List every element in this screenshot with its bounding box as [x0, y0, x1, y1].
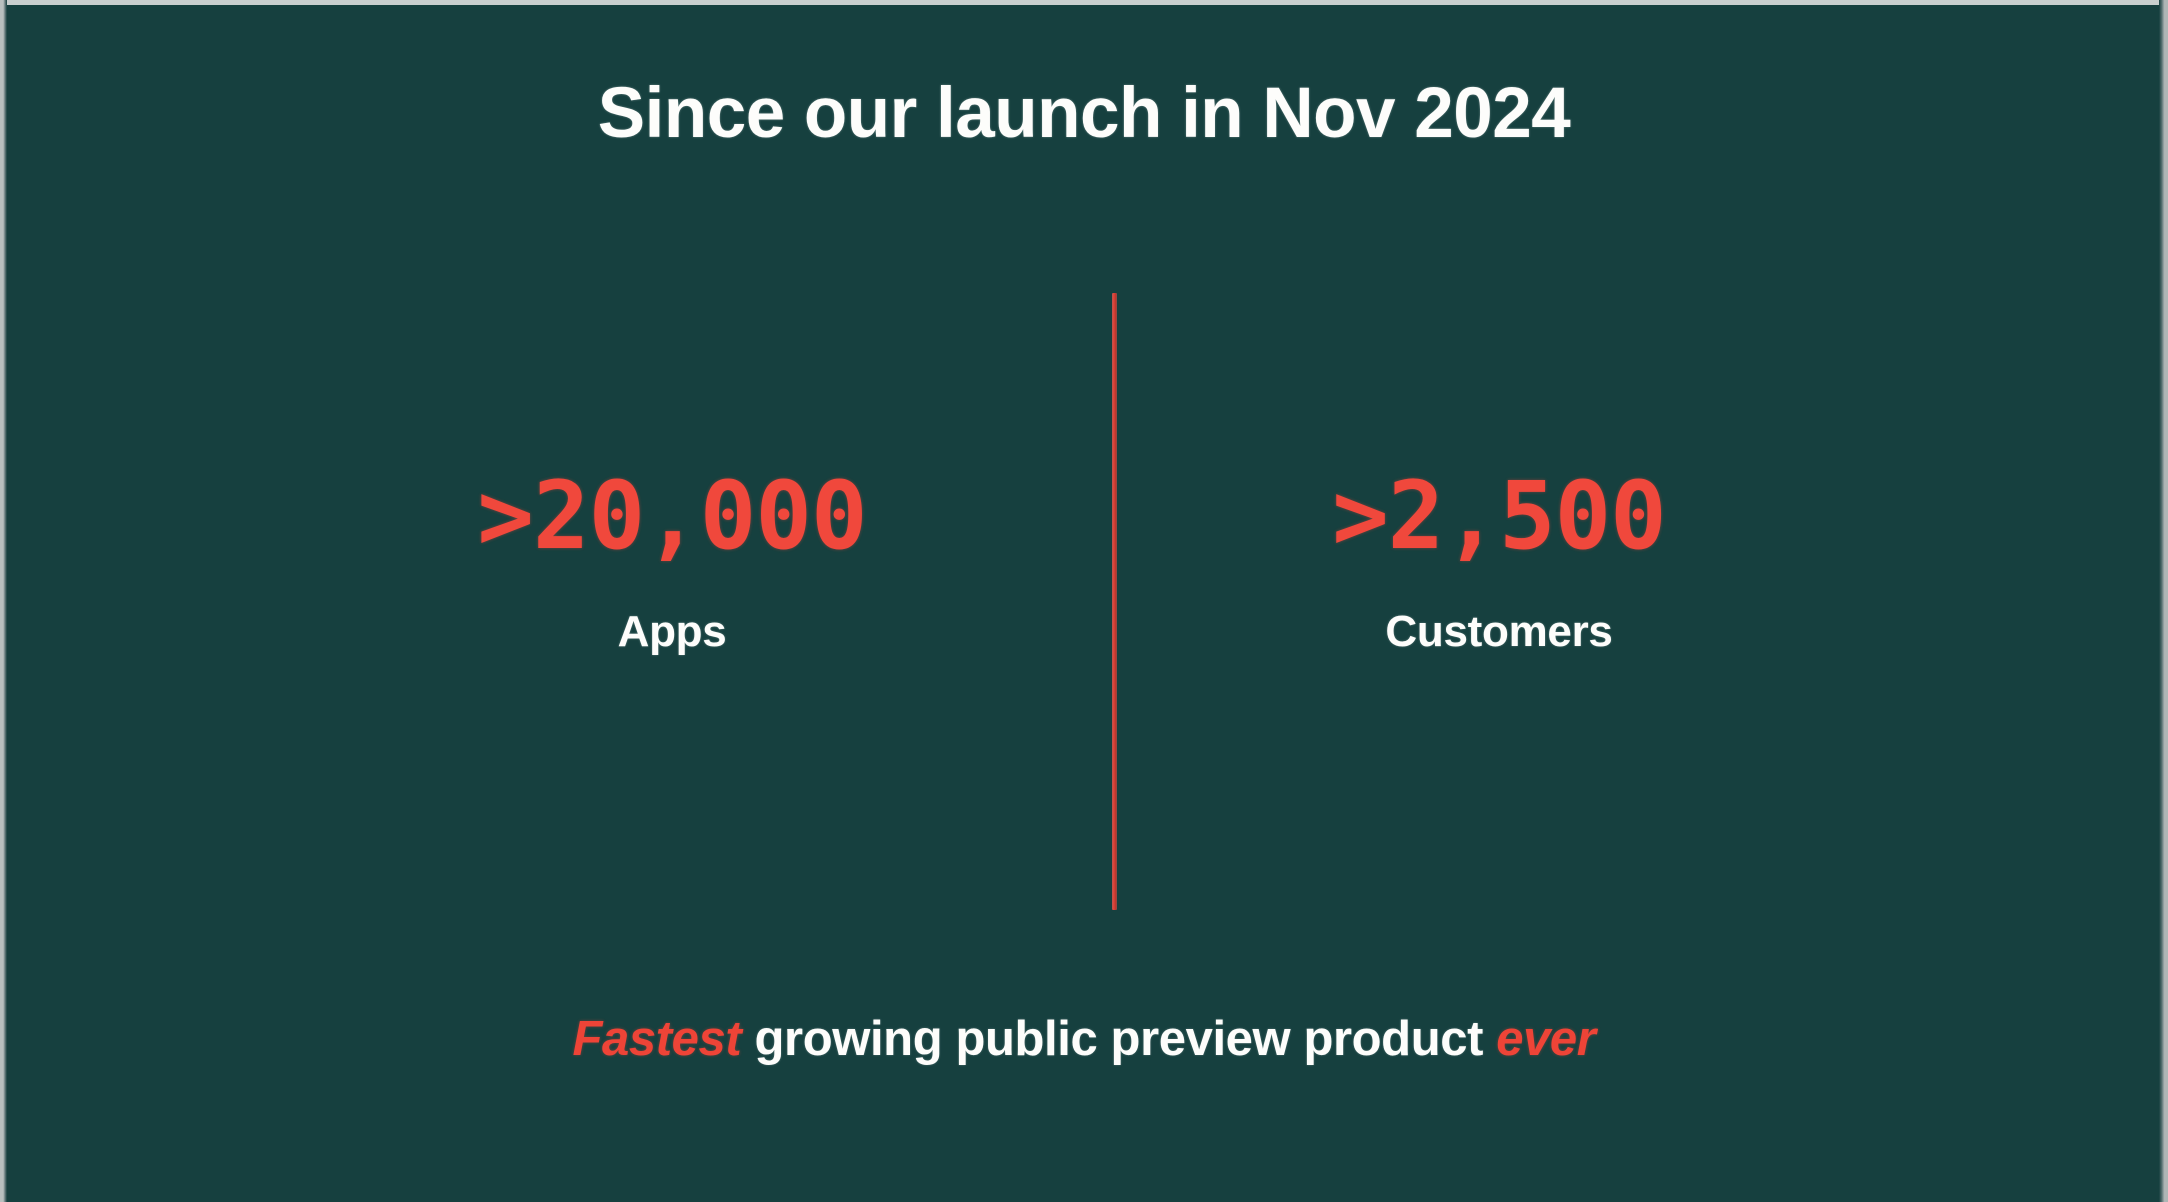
stat-label-apps: Apps [314, 610, 1030, 654]
tagline-middle: growing public preview product [741, 1012, 1496, 1066]
stats-row: >20,000 Apps >2,500 Customers [0, 470, 2168, 654]
stat-block-customers: >2,500 Customers [1084, 470, 1854, 654]
slide-title: Since our launch in Nov 2024 [0, 78, 2168, 149]
slide-tagline: Fastest growing public preview product e… [0, 1015, 2168, 1064]
slide-top-edge-strip [0, 0, 2168, 5]
tagline-lead-accent: Fastest [573, 1012, 742, 1066]
stat-label-customers: Customers [1144, 610, 1854, 654]
vertical-divider [1112, 293, 1117, 910]
stat-value-apps: >20,000 [314, 470, 1030, 564]
presentation-slide: Since our launch in Nov 2024 >20,000 App… [0, 0, 2168, 1202]
tagline-trail-accent: ever [1496, 1012, 1595, 1066]
stat-value-customers: >2,500 [1144, 470, 1854, 564]
stat-block-apps: >20,000 Apps [314, 470, 1084, 654]
